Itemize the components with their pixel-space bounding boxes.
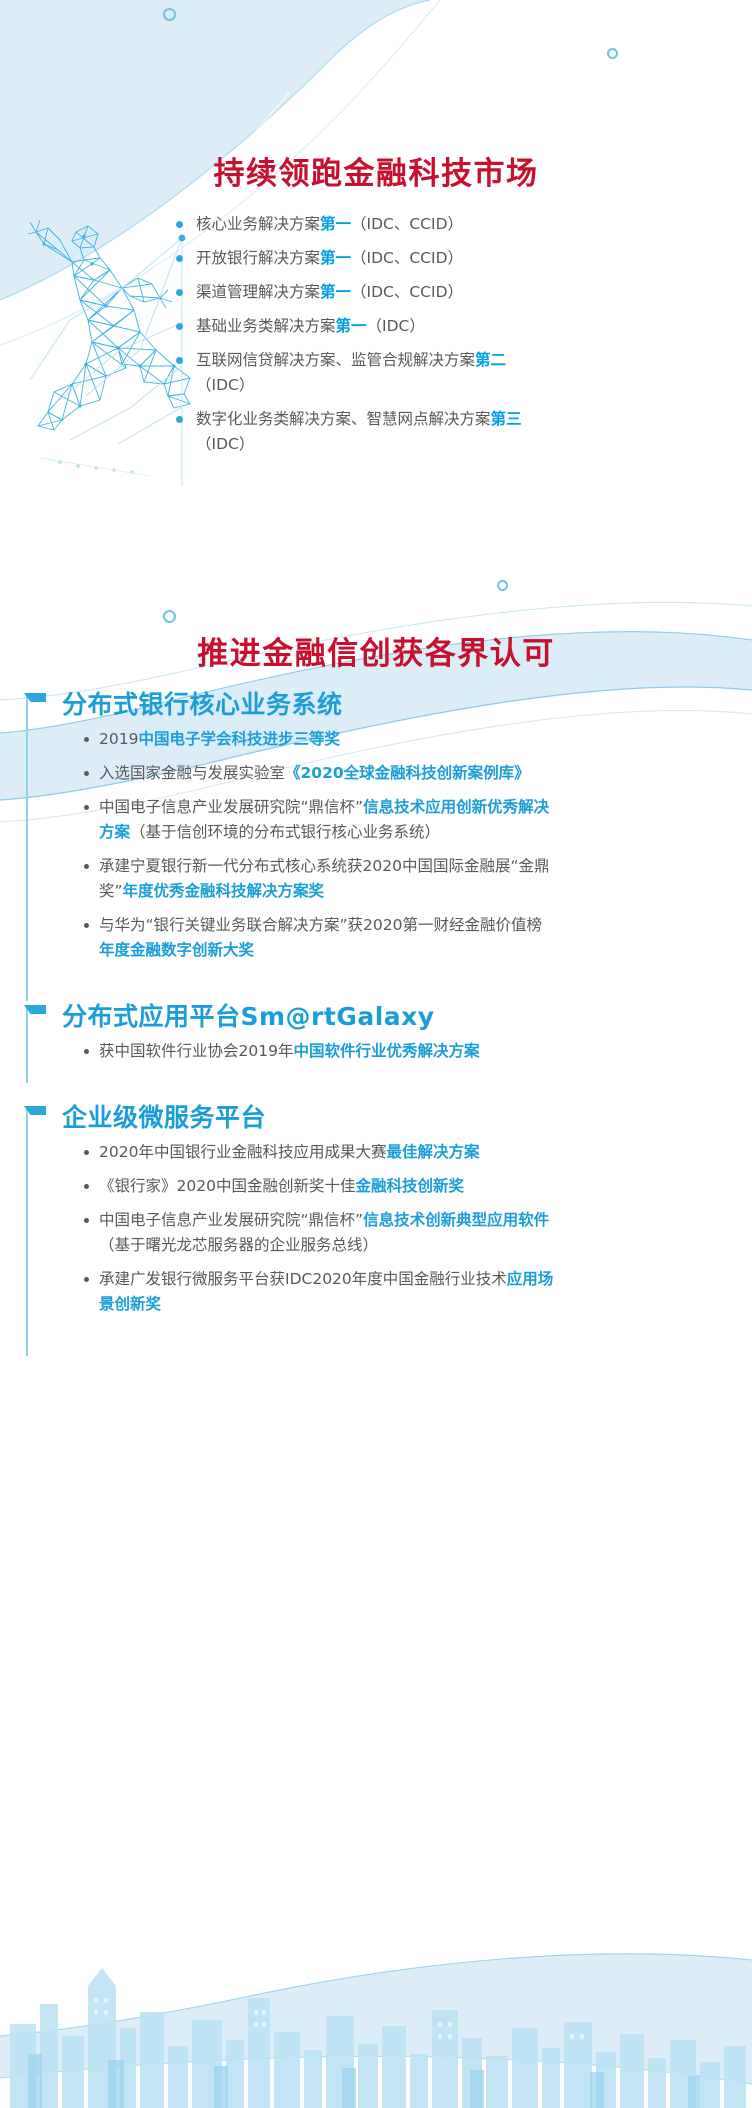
list-item: 核心业务解决方案第一（IDC、CCID） [176,212,706,237]
section2-title: 推进金融信创获各界认可 [0,628,752,673]
group-heading: 企业级微服务平台 [62,1098,752,1134]
list-item: 中国电子信息产业发展研究院“鼎信杯”信息技术创新典型应用软件（基于曙光龙芯服务器… [84,1208,752,1258]
list-item: 与华为“银行关键业务联合解决方案”获2020第一财经金融价值榜年度金融数字创新大… [84,913,752,963]
list-item: 承建宁夏银行新一代分布式核心系统获2020中国国际金融展“金鼎奖”年度优秀金融科… [84,854,752,904]
bullet-dot-icon [84,805,89,810]
bullet-dot-icon [84,737,89,742]
bullet-dot-icon [84,923,89,928]
list-item: 数字化业务类解决方案、智慧网点解决方案第三（IDC） [176,407,706,457]
decor-circle [163,610,176,623]
group-item-list: 2019中国电子学会科技进步三等奖 入选国家金融与发展实验室《2020全球金融科… [84,727,752,963]
decor-circle [163,8,176,21]
list-item-text: 承建广发银行微服务平台获IDC2020年度中国金融行业技术应用场景创新奖 [99,1267,554,1317]
list-item: 2020年中国银行业金融科技应用成果大赛最佳解决方案 [84,1140,752,1165]
bullet-dot-icon [176,289,183,296]
group-rail [26,1108,28,1356]
list-item: 入选国家金融与发展实验室《2020全球金融科技创新案例库》 [84,761,752,786]
list-item: 开放银行解决方案第一（IDC、CCID） [176,246,706,271]
bullet-dot-icon [176,416,183,423]
list-item-text: 基础业务类解决方案第一（IDC） [196,314,425,339]
list-item-text: 中国电子信息产业发展研究院“鼎信杯”信息技术创新典型应用软件（基于曙光龙芯服务器… [99,1208,554,1258]
list-item-text: 核心业务解决方案第一（IDC、CCID） [196,212,463,237]
bullet-dot-icon [84,1184,89,1189]
group-heading: 分布式应用平台Sm@rtGalaxy [62,997,752,1033]
list-item-text: 承建宁夏银行新一代分布式核心系统获2020中国国际金融展“金鼎奖”年度优秀金融科… [99,854,554,904]
award-group: 分布式应用平台Sm@rtGalaxy 获中国软件行业协会2019年中国软件行业优… [0,997,752,1064]
section1-title: 持续领跑金融科技市场 [0,148,752,193]
list-item: 基础业务类解决方案第一（IDC） [176,314,706,339]
bullet-dot-icon [176,255,183,262]
list-item: 获中国软件行业协会2019年中国软件行业优秀解决方案 [84,1039,752,1064]
bullet-dot-icon [84,771,89,776]
group-item-list: 获中国软件行业协会2019年中国软件行业优秀解决方案 [84,1039,752,1064]
list-item-text: 2020年中国银行业金融科技应用成果大赛最佳解决方案 [99,1140,479,1165]
list-item: 中国电子信息产业发展研究院“鼎信杯”信息技术应用创新优秀解决方案（基于信创环境的… [84,795,752,845]
list-item-text: 互联网信贷解决方案、监管合规解决方案第二（IDC） [196,348,526,398]
list-item: 2019中国电子学会科技进步三等奖 [84,727,752,752]
bullet-dot-icon [176,323,183,330]
group-rail [26,695,28,1001]
section2-groups: 分布式银行核心业务系统 2019中国电子学会科技进步三等奖 入选国家金融与发展实… [0,685,752,1326]
bullet-dot-icon [84,1049,89,1054]
group-item-list: 2020年中国银行业金融科技应用成果大赛最佳解决方案 《银行家》2020中国金融… [84,1140,752,1317]
list-item: 渠道管理解决方案第一（IDC、CCID） [176,280,706,305]
list-item-text: 获中国软件行业协会2019年中国软件行业优秀解决方案 [99,1039,479,1064]
list-item-text: 中国电子信息产业发展研究院“鼎信杯”信息技术应用创新优秀解决方案（基于信创环境的… [99,795,554,845]
list-item-text: 开放银行解决方案第一（IDC、CCID） [196,246,463,271]
bullet-dot-icon [84,864,89,869]
list-item-text: 与华为“银行关键业务联合解决方案”获2020第一财经金融价值榜年度金融数字创新大… [99,913,554,963]
bullet-dot-icon [176,221,183,228]
section1-bullet-list: 核心业务解决方案第一（IDC、CCID） 开放银行解决方案第一（IDC、CCID… [176,212,706,466]
list-item-text: 数字化业务类解决方案、智慧网点解决方案第三（IDC） [196,407,526,457]
award-group: 分布式银行核心业务系统 2019中国电子学会科技进步三等奖 入选国家金融与发展实… [0,685,752,963]
decor-circle [607,48,618,59]
list-item-text: 入选国家金融与发展实验室《2020全球金融科技创新案例库》 [99,761,530,786]
bullet-dot-icon [176,357,183,364]
list-item: 《银行家》2020中国金融创新奖十佳金融科技创新奖 [84,1174,752,1199]
bullet-dot-icon [84,1150,89,1155]
city-skyline-silhouette [0,1928,752,2108]
list-item-text: 渠道管理解决方案第一（IDC、CCID） [196,280,463,305]
list-item-text: 2019中国电子学会科技进步三等奖 [99,727,340,752]
list-item: 互联网信贷解决方案、监管合规解决方案第二（IDC） [176,348,706,398]
decor-circle [497,580,508,591]
group-heading: 分布式银行核心业务系统 [62,685,752,721]
bullet-dot-icon [84,1277,89,1282]
list-item-text: 《银行家》2020中国金融创新奖十佳金融科技创新奖 [99,1174,464,1199]
award-group: 企业级微服务平台 2020年中国银行业金融科技应用成果大赛最佳解决方案 《银行家… [0,1098,752,1317]
list-item: 承建广发银行微服务平台获IDC2020年度中国金融行业技术应用场景创新奖 [84,1267,752,1317]
group-rail [26,1007,28,1083]
bullet-dot-icon [84,1218,89,1223]
